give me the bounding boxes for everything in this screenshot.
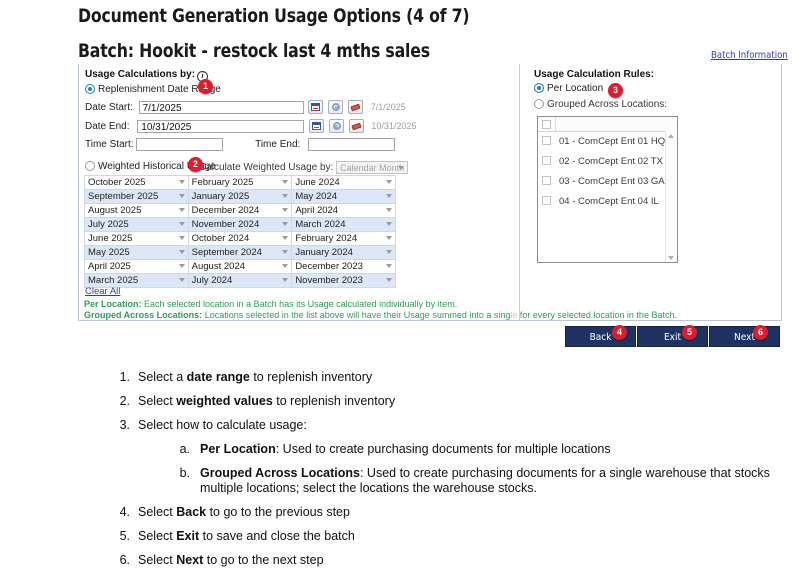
- radio-per-location-label: Per Location: [547, 83, 603, 94]
- next-button[interactable]: Next: [709, 326, 780, 347]
- step-1-text-c: to replenish inventory: [250, 370, 372, 384]
- month-grid-cell[interactable]: September 2025: [85, 190, 189, 204]
- month-grid-cell[interactable]: February 2024: [292, 232, 396, 246]
- page-heading-block: Document Generation Usage Options (4 of …: [78, 4, 778, 63]
- chevron-down-icon: [386, 208, 392, 212]
- location-list-item[interactable]: 02 - ComCept Ent 02 TX: [538, 152, 677, 172]
- month-select-value: August 2024: [192, 261, 245, 272]
- month-select[interactable]: April 2024: [292, 204, 395, 217]
- callout-badge-4: 4: [612, 325, 627, 340]
- month-select[interactable]: May 2025: [85, 246, 188, 259]
- month-select-value: March 2024: [295, 219, 345, 230]
- date-end-row: Date End: 10/31/2025 10/31/2025: [85, 119, 416, 133]
- month-grid-row: September 2025January 2025May 2024: [85, 190, 396, 204]
- month-grid-cell[interactable]: July 2024: [188, 274, 292, 288]
- month-select[interactable]: January 2025: [189, 190, 292, 203]
- calendar-icon[interactable]: [309, 119, 324, 133]
- month-select[interactable]: March 2024: [292, 218, 395, 231]
- month-grid-cell[interactable]: April 2025: [85, 260, 189, 274]
- step-5-number: 5.: [110, 529, 130, 544]
- instruction-list: 1. Select a date range to replenish inve…: [110, 370, 800, 577]
- month-select[interactable]: June 2025: [85, 232, 188, 245]
- chevron-down-icon: [282, 250, 288, 254]
- month-select-value: May 2025: [88, 247, 130, 258]
- locations-list-header[interactable]: [538, 117, 677, 132]
- month-grid-cell[interactable]: November 2024: [188, 218, 292, 232]
- legend-grouped-label: Grouped Across Locations:: [84, 310, 202, 320]
- step-5-text-c: to save and close the batch: [199, 529, 355, 543]
- radio-grouped-indicator[interactable]: [534, 99, 544, 109]
- step-1-text-bold: date range: [187, 370, 250, 384]
- legend-block: Per Location: Each selected location in …: [84, 299, 774, 321]
- scroll-down-arrow-icon[interactable]: [668, 256, 674, 260]
- eraser-icon[interactable]: [349, 119, 364, 133]
- substep-b-number: b.: [168, 466, 190, 481]
- month-select[interactable]: October 2024: [189, 232, 292, 245]
- month-grid-row: August 2025December 2024April 2024: [85, 204, 396, 218]
- chevron-down-icon: [179, 250, 185, 254]
- month-select-value: April 2025: [88, 261, 131, 272]
- month-grid-cell[interactable]: September 2024: [188, 246, 292, 260]
- locations-scrollbar[interactable]: [665, 131, 677, 263]
- location-list-item[interactable]: 03 - ComCept Ent 03 GA: [538, 172, 677, 192]
- step-6-text-a: Select: [138, 553, 176, 567]
- month-grid-row: April 2025August 2024December 2023: [85, 260, 396, 274]
- month-grid-cell[interactable]: March 2024: [292, 218, 396, 232]
- time-row: Time Start: Time End:: [85, 138, 395, 151]
- step-4-text-c: to go to the previous step: [206, 505, 350, 519]
- month-select[interactable]: December 2024: [189, 204, 292, 217]
- callout-badge-5: 5: [682, 325, 697, 340]
- substep-a-number: a.: [168, 442, 190, 457]
- month-grid-cell[interactable]: July 2025: [85, 218, 189, 232]
- instruction-step-6: 6. Select Next to go to the next step: [110, 553, 800, 568]
- usage-calculations-by-text: Usage Calculations by:: [85, 69, 195, 80]
- month-select-value: November 2023: [295, 275, 363, 286]
- month-select[interactable]: August 2024: [189, 260, 292, 273]
- gear-icon[interactable]: [328, 100, 343, 114]
- radio-grouped-label: Grouped Across Locations:: [547, 99, 667, 110]
- locations-list[interactable]: 01 - ComCept Ent 01 HQ02 - ComCept Ent 0…: [537, 116, 678, 263]
- chevron-down-icon: [282, 278, 288, 282]
- month-grid-cell[interactable]: April 2024: [292, 204, 396, 218]
- month-grid-cell[interactable]: January 2025: [188, 190, 292, 204]
- weighted-month-grid[interactable]: October 2025February 2025June 2024Septem…: [84, 175, 396, 288]
- date-start-label: Date Start:: [85, 102, 133, 113]
- date-start-ghost-value: 7/1/2025: [371, 102, 406, 112]
- month-select-value: October 2025: [88, 177, 146, 188]
- month-grid-row: May 2025September 2024January 2024: [85, 246, 396, 260]
- month-grid-row: June 2025October 2024February 2024: [85, 232, 396, 246]
- month-select[interactable]: September 2025: [85, 190, 188, 203]
- locations-items-container: 01 - ComCept Ent 01 HQ02 - ComCept Ent 0…: [538, 132, 677, 212]
- location-list-item[interactable]: 04 - ComCept Ent 04 IL: [538, 192, 677, 212]
- month-select-value: September 2024: [192, 247, 262, 258]
- step-1-text-a: Select a: [138, 370, 187, 384]
- radio-per-location[interactable]: Per Location: [534, 83, 603, 94]
- month-grid-cell[interactable]: May 2025: [85, 246, 189, 260]
- date-end-ghost-value: 10/31/2025: [371, 121, 416, 131]
- month-select-value: July 2025: [88, 219, 129, 230]
- time-end-input[interactable]: [308, 138, 395, 151]
- month-select[interactable]: April 2025: [85, 260, 188, 273]
- month-select-value: December 2024: [192, 205, 260, 216]
- month-select-value: September 2025: [88, 191, 158, 202]
- step-1-number: 1.: [110, 370, 130, 385]
- location-label: 04 - ComCept Ent 04 IL: [559, 196, 659, 207]
- location-checkbox[interactable]: [542, 136, 551, 145]
- month-grid-cell[interactable]: June 2025: [85, 232, 189, 246]
- legend-line-1: Per Location: Each selected location in …: [84, 299, 774, 310]
- chevron-down-icon: [386, 194, 392, 198]
- month-select-value: August 2025: [88, 205, 141, 216]
- month-select[interactable]: May 2024: [292, 190, 395, 203]
- step-4-text-bold: Back: [176, 505, 206, 519]
- month-grid-cell[interactable]: May 2024: [292, 190, 396, 204]
- legend-line-2: Grouped Across Locations: Locations sele…: [84, 310, 774, 321]
- usage-calculation-rules-label: Usage Calculation Rules:: [534, 69, 654, 80]
- month-select-value: January 2025: [192, 191, 250, 202]
- location-checkbox[interactable]: [542, 156, 551, 165]
- month-select[interactable]: February 2024: [292, 232, 395, 245]
- calendar-icon[interactable]: [308, 100, 323, 114]
- legend-per-location-label: Per Location:: [84, 299, 142, 309]
- instruction-step-4: 4. Select Back to go to the previous ste…: [110, 505, 800, 520]
- step-2-number: 2.: [110, 394, 130, 409]
- exit-button[interactable]: Exit: [637, 326, 708, 347]
- step-5-text-bold: Exit: [176, 529, 199, 543]
- instruction-step-1: 1. Select a date range to replenish inve…: [110, 370, 800, 385]
- calculate-weighted-usage-select[interactable]: Calendar Month: [336, 161, 408, 174]
- chevron-down-icon: [179, 194, 185, 198]
- step-6-number: 6.: [110, 553, 130, 568]
- month-select-value: June 2024: [295, 177, 339, 188]
- legend-grouped-tail: for every selected location in the Batch…: [517, 310, 677, 320]
- month-select[interactable]: February 2025: [189, 176, 292, 189]
- batch-information-link[interactable]: Batch Information: [711, 50, 788, 61]
- scroll-up-arrow-icon[interactable]: [668, 134, 674, 138]
- time-start-label: Time Start:: [85, 139, 134, 150]
- calculate-weighted-usage-value: Calendar Month: [340, 163, 404, 173]
- step-4-text-a: Select: [138, 505, 176, 519]
- instruction-substep-b: b. Grouped Across Locations: Used to cre…: [168, 466, 800, 496]
- location-checkbox[interactable]: [542, 176, 551, 185]
- clear-all-link[interactable]: Clear All: [85, 286, 120, 297]
- month-select[interactable]: October 2025: [85, 176, 188, 189]
- instruction-step-3: 3. Select how to calculate usage: a. Per…: [110, 418, 800, 496]
- month-grid-cell[interactable]: October 2025: [85, 176, 189, 190]
- month-grid-row: March 2025July 2024November 2023: [85, 274, 396, 288]
- location-checkbox[interactable]: [542, 196, 551, 205]
- month-grid-cell[interactable]: August 2025: [85, 204, 189, 218]
- usage-calculations-by-label: Usage Calculations by:i: [85, 69, 208, 82]
- month-grid-cell[interactable]: December 2023: [292, 260, 396, 274]
- month-select[interactable]: September 2024: [189, 246, 292, 259]
- month-grid-cell[interactable]: October 2024: [188, 232, 292, 246]
- callout-badge-6: 6: [753, 325, 768, 340]
- month-grid-row: July 2025November 2024March 2024: [85, 218, 396, 232]
- chevron-down-icon: [179, 264, 185, 268]
- chevron-down-icon: [386, 250, 392, 254]
- chevron-down-icon: [282, 180, 288, 184]
- chevron-down-icon: [386, 264, 392, 268]
- chevron-down-icon: [282, 236, 288, 240]
- chevron-down-icon: [179, 236, 185, 240]
- step-2-text-c: to replenish inventory: [273, 394, 395, 408]
- month-grid-cell[interactable]: February 2025: [188, 176, 292, 190]
- month-select-value: February 2025: [192, 177, 254, 188]
- radio-per-location-indicator[interactable]: [534, 83, 544, 93]
- month-grid-cell[interactable]: November 2023: [292, 274, 396, 288]
- date-end-label: Date End:: [85, 121, 129, 132]
- month-select[interactable]: December 2023: [292, 260, 395, 273]
- legend-grouped-text: Locations selected in the list above wil…: [202, 310, 510, 320]
- month-select-value: April 2024: [295, 205, 338, 216]
- chevron-down-icon: [282, 264, 288, 268]
- month-select[interactable]: January 2024: [292, 246, 395, 259]
- step-6-text-c: to go to the next step: [203, 553, 323, 567]
- substep-a-text: : Used to create purchasing documents fo…: [276, 442, 611, 456]
- radio-replenishment-indicator[interactable]: [85, 84, 95, 94]
- step-4-number: 4.: [110, 505, 130, 520]
- month-select[interactable]: June 2024: [292, 176, 395, 189]
- step-2-text-bold: weighted values: [176, 394, 273, 408]
- time-start-input[interactable]: [136, 138, 223, 151]
- location-list-item[interactable]: 01 - ComCept Ent 01 HQ: [538, 132, 677, 152]
- month-grid-cell[interactable]: August 2024: [188, 260, 292, 274]
- chevron-down-icon: [282, 208, 288, 212]
- callout-badge-3: 3: [608, 83, 623, 98]
- step-3-text: Select how to calculate usage:: [138, 418, 307, 432]
- legend-per-location-text: Each selected location in a Batch has it…: [142, 299, 458, 309]
- chevron-down-icon: [179, 208, 185, 212]
- calculate-weighted-usage-row: Calculate Weighted Usage by: Calendar Mo…: [199, 161, 408, 174]
- chevron-down-icon: [179, 180, 185, 184]
- calculate-weighted-usage-label: Calculate Weighted Usage by:: [199, 162, 333, 173]
- location-label: 02 - ComCept Ent 02 TX: [559, 156, 663, 167]
- location-label: 01 - ComCept Ent 01 HQ: [559, 136, 665, 147]
- month-grid-cell[interactable]: June 2024: [292, 176, 396, 190]
- instruction-substeps: a. Per Location: Used to create purchasi…: [138, 442, 800, 496]
- month-select[interactable]: August 2025: [85, 204, 188, 217]
- chevron-down-icon: [282, 194, 288, 198]
- month-grid-cell[interactable]: January 2024: [292, 246, 396, 260]
- substep-a-bold: Per Location: [200, 442, 276, 456]
- panel-divider: [519, 64, 520, 320]
- date-start-input[interactable]: 7/1/2025: [139, 101, 304, 114]
- chevron-down-icon: [179, 222, 185, 226]
- month-grid-row: October 2025February 2025June 2024: [85, 176, 396, 190]
- page-title: Document Generation Usage Options (4 of …: [78, 4, 722, 29]
- application-form-panel: Usage Calculations by:i Replenishment Da…: [78, 64, 782, 321]
- instruction-substep-a: a. Per Location: Used to create purchasi…: [168, 442, 800, 457]
- button-bar: BackExitNext: [565, 326, 780, 347]
- substep-b-bold: Grouped Across Locations: [200, 466, 360, 480]
- month-select-value: July 2024: [192, 275, 233, 286]
- month-select-value: February 2024: [295, 233, 357, 244]
- step-3-number: 3.: [110, 418, 130, 433]
- instruction-step-2: 2. Select weighted values to replenish i…: [110, 394, 800, 409]
- month-select-value: January 2024: [295, 247, 353, 258]
- step-5-text-a: Select: [138, 529, 176, 543]
- date-end-input[interactable]: 10/31/2025: [137, 120, 304, 133]
- callout-badge-1: 1: [198, 79, 213, 94]
- chevron-down-icon: [282, 222, 288, 226]
- callout-badge-2: 2: [188, 157, 203, 172]
- step-6-text-bold: Next: [176, 553, 203, 567]
- radio-weighted-indicator[interactable]: [85, 161, 95, 171]
- location-label: 03 - ComCept Ent 03 GA: [559, 176, 665, 187]
- chevron-down-icon: [179, 278, 185, 282]
- month-select-value: May 2024: [295, 191, 337, 202]
- month-select[interactable]: November 2024: [189, 218, 292, 231]
- month-select-value: December 2023: [295, 261, 363, 272]
- step-2-text-a: Select: [138, 394, 176, 408]
- month-select-value: March 2025: [88, 275, 138, 286]
- month-select[interactable]: July 2025: [85, 218, 188, 231]
- chevron-down-icon: [386, 236, 392, 240]
- date-start-row: Date Start: 7/1/2025 7/1/2025: [85, 100, 406, 114]
- month-select-value: October 2024: [192, 233, 250, 244]
- header-column-divider: [555, 117, 556, 131]
- chevron-down-icon: [386, 222, 392, 226]
- chevron-down-icon: [386, 180, 392, 184]
- month-select-value: June 2025: [88, 233, 132, 244]
- month-grid-cell[interactable]: December 2024: [188, 204, 292, 218]
- eraser-icon[interactable]: [348, 100, 363, 114]
- month-select[interactable]: July 2024: [189, 274, 292, 287]
- month-select[interactable]: November 2023: [292, 274, 395, 287]
- radio-grouped-across-locations[interactable]: Grouped Across Locations:: [534, 99, 667, 110]
- chevron-down-icon: [386, 278, 392, 282]
- time-end-label: Time End:: [255, 139, 300, 150]
- instruction-step-5: 5. Select Exit to save and close the bat…: [110, 529, 800, 544]
- chevron-down-icon: [398, 166, 404, 170]
- select-all-checkbox[interactable]: [542, 120, 551, 129]
- page-subtitle: Batch: Hookit - restock last 4 mths sale…: [78, 39, 722, 64]
- month-select-value: November 2024: [192, 219, 260, 230]
- gear-icon[interactable]: [329, 119, 344, 133]
